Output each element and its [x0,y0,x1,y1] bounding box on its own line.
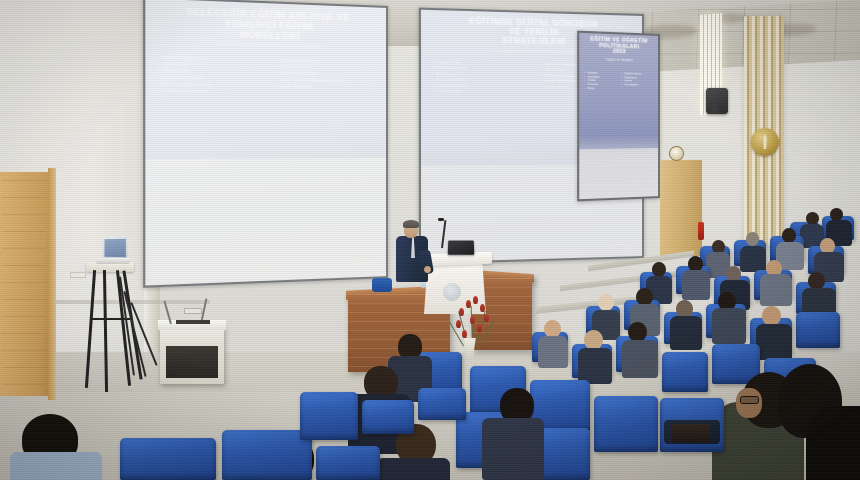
seat[interactable] [222,430,312,480]
attendee-body [482,418,544,480]
attendee-body [10,452,102,480]
seat[interactable] [120,438,216,480]
audience-center-block [0,0,860,480]
seat[interactable] [316,446,380,480]
seat[interactable] [594,396,658,452]
seat[interactable] [300,392,358,440]
seat[interactable] [418,388,466,420]
seat[interactable] [362,400,414,434]
attendee-body [376,458,450,480]
auditorium-photo: GELECEĞİN EĞİTİM ANLAYIŞI VE YENİLİKÇİ E… [0,0,860,480]
